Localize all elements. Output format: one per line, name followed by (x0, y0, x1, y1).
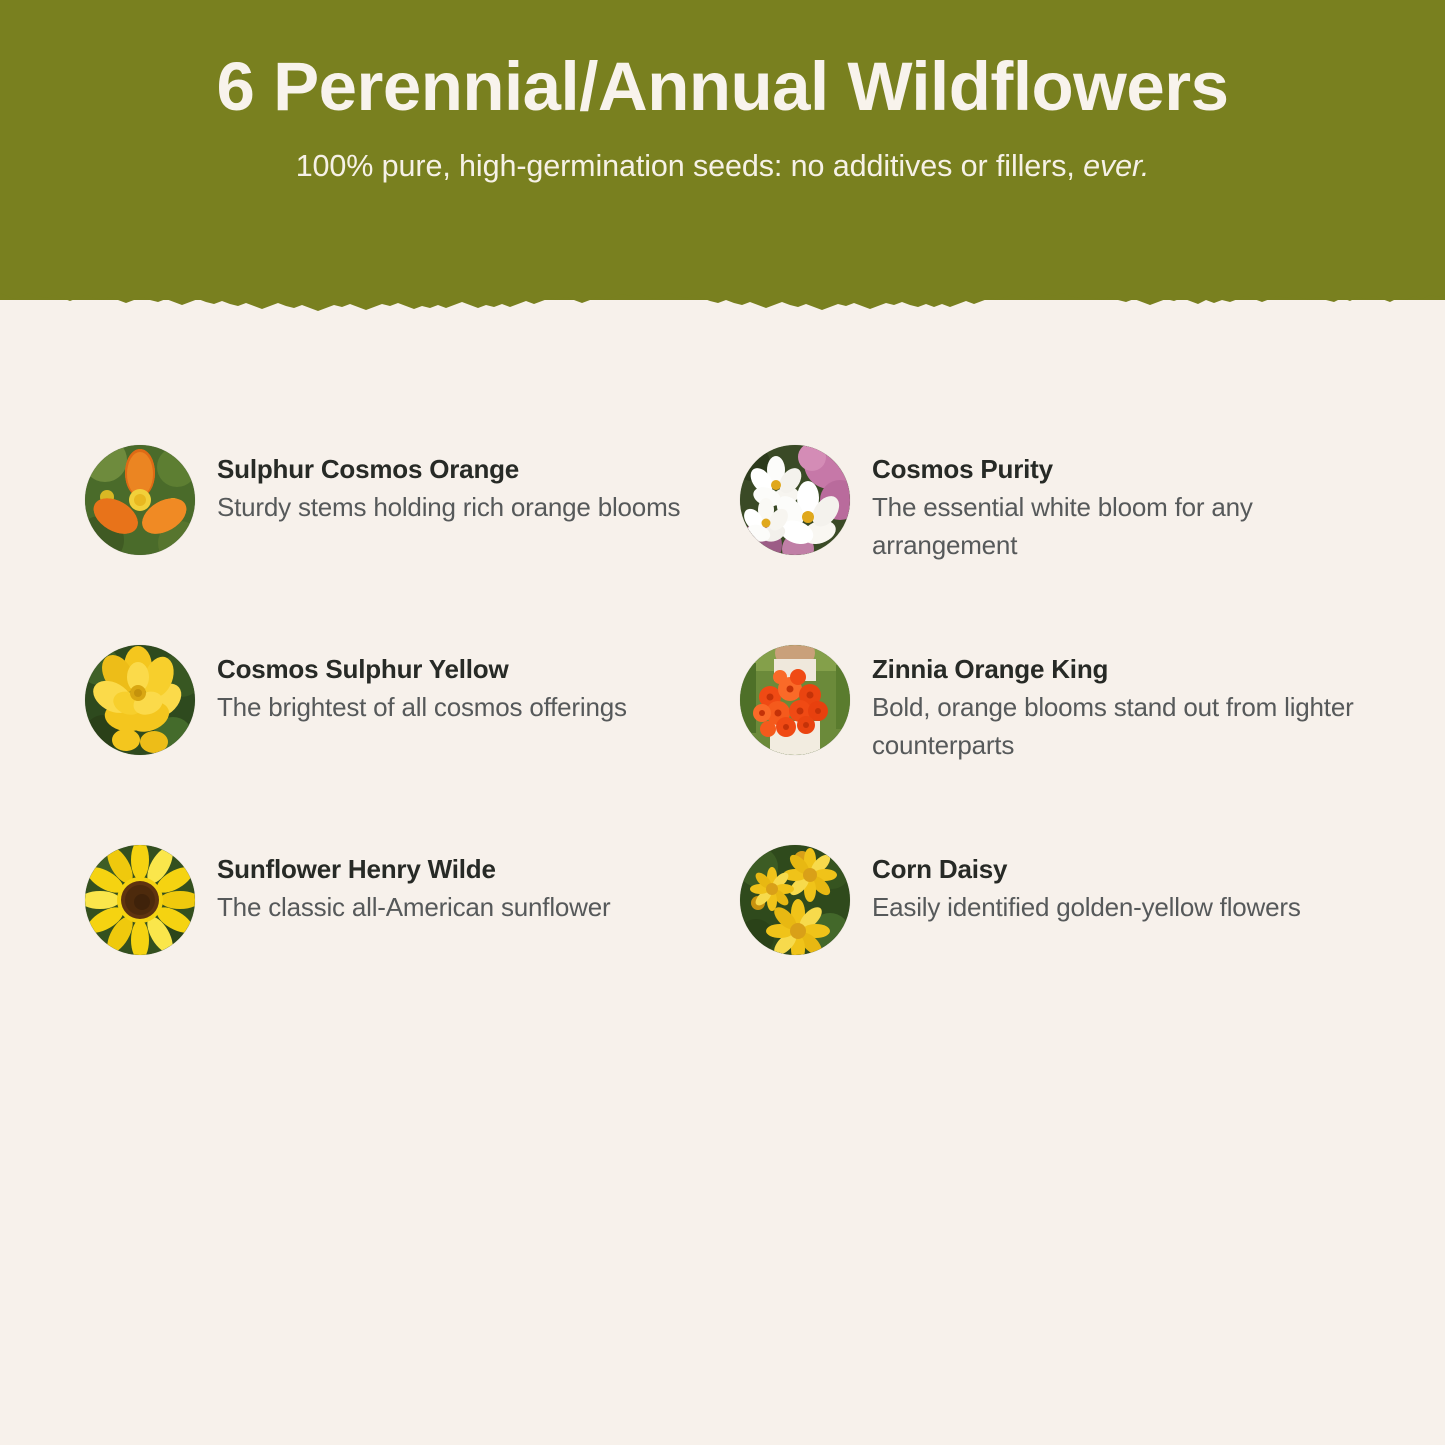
flower-description: The essential white bloom for any arrang… (872, 488, 1352, 564)
flower-description: The classic all-American sunflower (217, 888, 610, 926)
flower-text-block: Cosmos Purity The essential white bloom … (872, 445, 1352, 565)
flower-description: Easily identified golden-yellow flowers (872, 888, 1301, 926)
flower-text-block: Cosmos Sulphur Yellow The brightest of a… (217, 645, 627, 726)
flower-thumbnail-sunflower-icon (85, 845, 195, 955)
flower-thumbnail-orange-zinnia-bouquet-icon (740, 645, 850, 755)
flower-thumbnail-yellow-cosmos-icon (85, 645, 195, 755)
flower-item-cosmos-purity[interactable]: Cosmos Purity The essential white bloom … (740, 445, 1370, 645)
page-subtitle: 100% pure, high-germination seeds: no ad… (0, 148, 1445, 185)
flower-item-sulphur-cosmos-orange[interactable]: Sulphur Cosmos Orange Sturdy stems holdi… (85, 445, 740, 645)
flower-text-block: Zinnia Orange King Bold, orange blooms s… (872, 645, 1370, 765)
flower-name: Cosmos Purity (872, 453, 1352, 486)
flower-name: Zinnia Orange King (872, 653, 1370, 686)
page-title: 6 Perennial/Annual Wildflowers (0, 52, 1445, 121)
flower-name: Sulphur Cosmos Orange (217, 453, 680, 486)
flower-item-cosmos-sulphur-yellow[interactable]: Cosmos Sulphur Yellow The brightest of a… (85, 645, 740, 845)
flower-list-section: Sulphur Cosmos Orange Sturdy stems holdi… (0, 300, 1445, 1445)
flower-grid: Sulphur Cosmos Orange Sturdy stems holdi… (85, 445, 1370, 1045)
subtitle-emphasis-text: ever. (1083, 149, 1149, 183)
header-content: 6 Perennial/Annual Wildflowers 100% pure… (0, 0, 1445, 185)
flower-item-sunflower-henry-wilde[interactable]: Sunflower Henry Wilde The classic all-Am… (85, 845, 740, 1045)
flower-thumbnail-orange-cosmos-icon (85, 445, 195, 555)
header-banner: 6 Perennial/Annual Wildflowers 100% pure… (0, 0, 1445, 300)
flower-text-block: Sunflower Henry Wilde The classic all-Am… (217, 845, 610, 926)
flower-item-corn-daisy[interactable]: Corn Daisy Easily identified golden-yell… (740, 845, 1370, 1045)
flower-item-zinnia-orange-king[interactable]: Zinnia Orange King Bold, orange blooms s… (740, 645, 1370, 845)
flower-name: Sunflower Henry Wilde (217, 853, 610, 886)
flower-description: Bold, orange blooms stand out from light… (872, 688, 1370, 764)
flower-name: Cosmos Sulphur Yellow (217, 653, 627, 686)
flower-description: The brightest of all cosmos offerings (217, 688, 627, 726)
flower-text-block: Sulphur Cosmos Orange Sturdy stems holdi… (217, 445, 680, 526)
flower-description: Sturdy stems holding rich orange blooms (217, 488, 680, 526)
flower-text-block: Corn Daisy Easily identified golden-yell… (872, 845, 1301, 926)
flower-name: Corn Daisy (872, 853, 1301, 886)
flower-thumbnail-corn-daisy-icon (740, 845, 850, 955)
flower-thumbnail-white-cosmos-icon (740, 445, 850, 555)
subtitle-plain-text: 100% pure, high-germination seeds: no ad… (296, 149, 1083, 183)
